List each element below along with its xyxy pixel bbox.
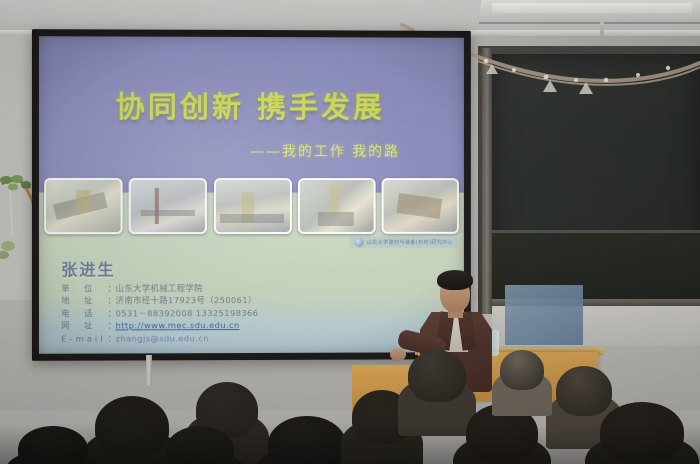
audience-member-head xyxy=(18,426,88,464)
audience-member-head xyxy=(95,396,169,458)
slide-speaker-name: 张进生 xyxy=(61,256,115,280)
contact-key: 地 址 xyxy=(61,295,107,308)
contact-colon: ： xyxy=(108,295,116,307)
slide-photo xyxy=(44,178,123,234)
presenter-hair xyxy=(437,270,473,290)
contact-key: 单 位 xyxy=(61,282,107,295)
audience-member-head xyxy=(268,416,346,464)
contact-value: 山东大学机械工程学院 xyxy=(116,282,203,295)
contact-row: 地 址 ： 济南市经十路17923号（250061） xyxy=(61,294,461,307)
lecture-hall-photo: 协同创新 携手发展 ——我的工作 我的路 山东大学建材与装备(石材)研究中心 张… xyxy=(0,0,700,464)
slide-photo xyxy=(382,178,459,234)
fluorescent-tube xyxy=(491,3,692,13)
audience-member-head xyxy=(500,350,544,390)
contact-value: 济南市经十路17923号（250061） xyxy=(116,294,257,307)
audience xyxy=(0,330,700,464)
audience-member-head xyxy=(600,402,684,462)
contact-row: 电 话 ： 0531－88392008 13325198366 xyxy=(61,306,461,320)
contact-row: 单 位 ： 山东大学机械工程学院 xyxy=(61,282,461,295)
contact-value: 0531－88392008 13325198366 xyxy=(116,307,259,320)
slide-photo xyxy=(129,178,207,234)
slide-photo-strip xyxy=(44,177,459,235)
contact-colon: ： xyxy=(108,307,116,319)
slide-photo xyxy=(298,178,376,234)
slide-photo xyxy=(213,178,291,234)
contact-colon: ： xyxy=(108,282,116,294)
logo-mark-icon xyxy=(355,238,364,247)
contact-key: 电 话 xyxy=(61,307,107,320)
presentation-slide: 协同创新 携手发展 ——我的工作 我的路 山东大学建材与装备(石材)研究中心 张… xyxy=(39,36,464,354)
logo-text: 山东大学建材与装备(石材)研究中心 xyxy=(367,239,453,246)
slide-title: 协同创新 携手发展 xyxy=(116,84,445,127)
research-center-logo: 山东大学建材与装备(石材)研究中心 xyxy=(350,237,458,248)
slide-subtitle: ——我的工作 我的路 xyxy=(250,141,464,161)
audience-member-head xyxy=(556,366,612,416)
audience-member-head xyxy=(408,350,466,402)
